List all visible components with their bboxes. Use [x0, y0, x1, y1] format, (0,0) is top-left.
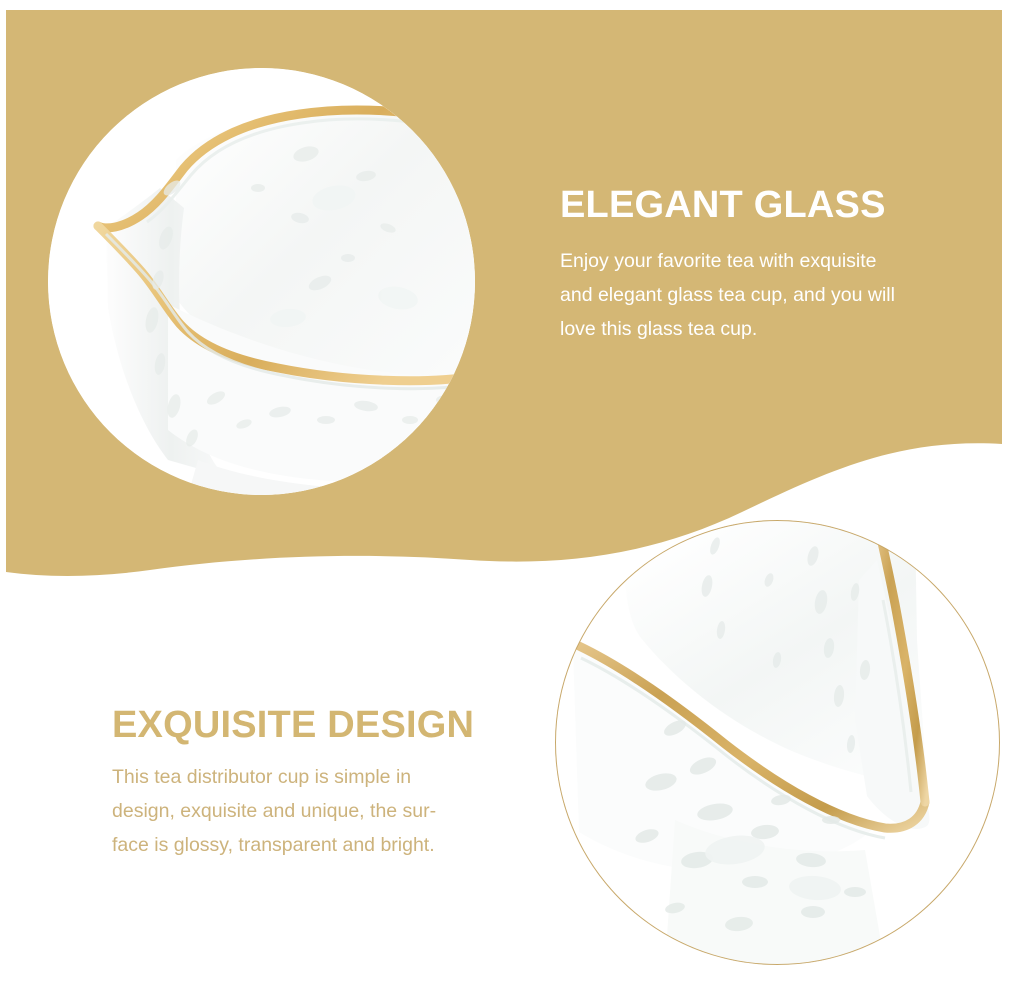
description-line: Enjoy your favorite tea with exquisite [560, 244, 972, 278]
page-title-exquisite-design: EXQUISITE DESIGN [112, 706, 512, 746]
description-line: face is glossy, transparent and bright. [112, 828, 512, 862]
feature-text-elegant-glass: ELEGANT GLASS Enjoy your favorite tea wi… [560, 186, 972, 346]
description-line: This tea distributor cup is simple in [112, 760, 512, 794]
description-line: design, exquisite and unique, the sur- [112, 794, 512, 828]
page-title-elegant-glass: ELEGANT GLASS [560, 186, 972, 226]
feature-description-exquisite-design: This tea distributor cup is simple in de… [112, 746, 512, 862]
glass-cup-spout-closeup [555, 520, 1000, 965]
description-line: and elegant glass tea cup, and you will [560, 278, 972, 312]
product-feature-banner: ELEGANT GLASS Enjoy your favorite tea wi… [0, 0, 1024, 1008]
description-line: love this glass tea cup. [560, 312, 972, 346]
glass-cup-rim-closeup [48, 68, 475, 495]
feature-text-exquisite-design: EXQUISITE DESIGN This tea distributor cu… [112, 706, 512, 862]
feature-description-elegant-glass: Enjoy your favorite tea with exquisite a… [560, 226, 972, 346]
